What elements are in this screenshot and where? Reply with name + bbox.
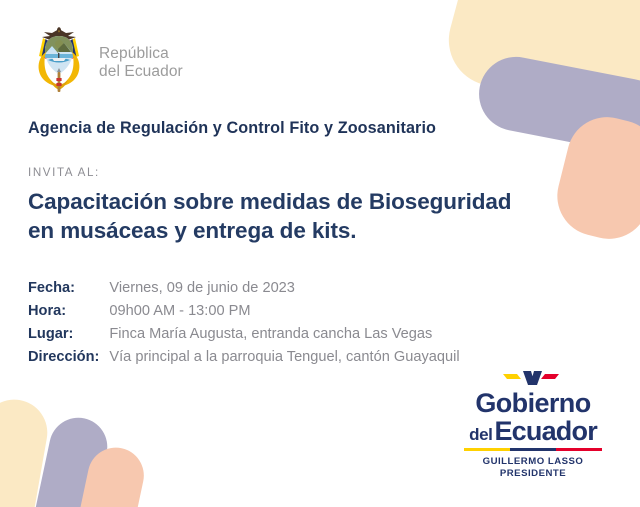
detail-value-lugar: Finca María Augusta, entranda cancha Las… <box>109 326 612 342</box>
coat-of-arms-icon <box>28 22 90 98</box>
president-credit: GUILLERMO LASSO PRESIDENTE <box>456 456 610 480</box>
decorative-blob-purple-bottom-left <box>29 412 112 507</box>
event-details: Fecha: Viernes, 09 de junio de 2023 Hora… <box>28 280 612 365</box>
agency-title: Agencia de Regulación y Control Fito y Z… <box>28 119 612 138</box>
president-role: PRESIDENTE <box>456 468 610 480</box>
tricolor-rule-icon <box>464 448 602 452</box>
detail-value-direccion: Vía principal a la parroquia Tenguel, ca… <box>109 349 612 365</box>
event-title-line-2: en musáceas y entrega de kits. <box>28 217 612 246</box>
event-title: Capacitación sobre medidas de Biosegurid… <box>28 188 612 246</box>
detail-label-lugar: Lugar: <box>28 326 99 342</box>
president-name: GUILLERMO LASSO <box>456 456 610 468</box>
invitation-flyer: República del Ecuador Agencia de Regulac… <box>0 0 640 507</box>
detail-label-direccion: Dirección: <box>28 349 99 365</box>
decorative-blob-salmon-bottom-left <box>71 442 149 507</box>
flyer-content: República del Ecuador Agencia de Regulac… <box>0 0 640 365</box>
tricolor-chevron-icon <box>501 370 565 389</box>
gobierno-del-ecuador-logo: Gobierno del Ecuador GUILLERMO LASSO PRE… <box>456 370 610 480</box>
republica-line-1: República <box>99 45 183 63</box>
republica-line-2: del Ecuador <box>99 63 183 81</box>
header-lockup: República del Ecuador <box>28 0 612 98</box>
invitation-kicker: INVITA AL: <box>28 166 612 179</box>
logo-word-gobierno: Gobierno <box>475 390 590 417</box>
logo-word-ecuador: Ecuador <box>494 418 596 445</box>
decorative-blob-cream-bottom-left <box>0 394 53 507</box>
detail-value-fecha: Viernes, 09 de junio de 2023 <box>109 280 612 296</box>
detail-value-hora: 09h00 AM - 13:00 PM <box>109 303 612 319</box>
gobierno-word-row: Gobierno <box>456 390 610 417</box>
republica-wordmark: República del Ecuador <box>99 39 183 82</box>
detail-label-hora: Hora: <box>28 303 99 319</box>
detail-label-fecha: Fecha: <box>28 280 99 296</box>
logo-word-del: del <box>469 426 492 443</box>
del-ecuador-word-row: del Ecuador <box>456 418 610 445</box>
event-title-line-1: Capacitación sobre medidas de Biosegurid… <box>28 188 612 217</box>
